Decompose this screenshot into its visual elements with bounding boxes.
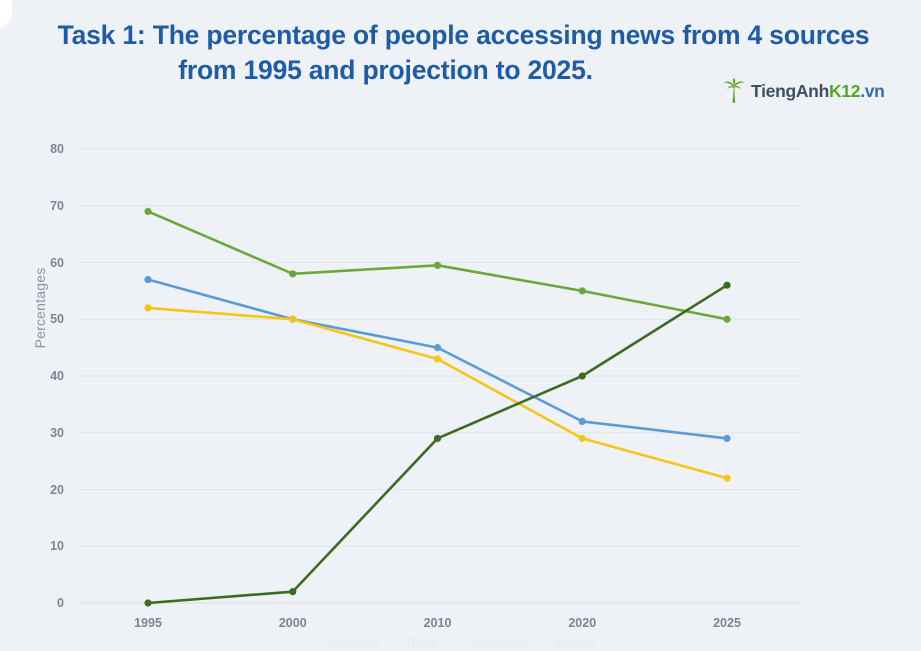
series-line [148,308,727,478]
y-axis-tick-label: 10 [24,539,64,553]
y-axis-tick-label: 80 [24,142,64,156]
data-point [144,599,151,606]
data-point [434,355,441,362]
series-newspaper [144,304,730,481]
chart-plot-svg [0,0,921,651]
data-point [289,270,296,277]
y-axis-tick-label: 60 [24,256,64,270]
x-axis-tick-label: 2010 [398,616,478,630]
legend-item: Newspaper [466,636,527,650]
line-chart: Percentages 8070605040302010019952000201… [0,0,921,651]
data-point [723,435,730,442]
series-internet [144,282,730,607]
legend-item: Radio [406,636,437,650]
data-point [434,262,441,269]
data-point [723,282,730,289]
y-axis-tick-label: 30 [24,426,64,440]
x-axis-tick-label: 2000 [253,616,333,630]
x-axis-tick-label: 2025 [687,616,767,630]
data-point [579,287,586,294]
chart-page: Task 1: The percentage of people accessi… [0,0,921,651]
data-point [144,208,151,215]
data-point [579,418,586,425]
y-axis-tick-label: 0 [24,596,64,610]
y-axis-tick-label: 50 [24,312,64,326]
data-point [434,435,441,442]
data-point [723,316,730,323]
chart-legend: TelevisionRadioNewspaperInternet [0,636,921,650]
data-point [289,316,296,323]
data-point [434,344,441,351]
x-axis-tick-label: 1995 [108,616,188,630]
series-television [144,208,730,323]
data-point [723,475,730,482]
data-point [144,304,151,311]
y-axis-tick-label: 70 [24,199,64,213]
legend-item: Internet [555,636,596,650]
data-point [579,435,586,442]
series-line [148,285,727,603]
y-axis-tick-label: 40 [24,369,64,383]
legend-item: Television [326,636,379,650]
data-point [579,372,586,379]
y-axis-tick-label: 20 [24,483,64,497]
x-axis-tick-label: 2020 [542,616,622,630]
data-point [144,276,151,283]
data-point [289,588,296,595]
